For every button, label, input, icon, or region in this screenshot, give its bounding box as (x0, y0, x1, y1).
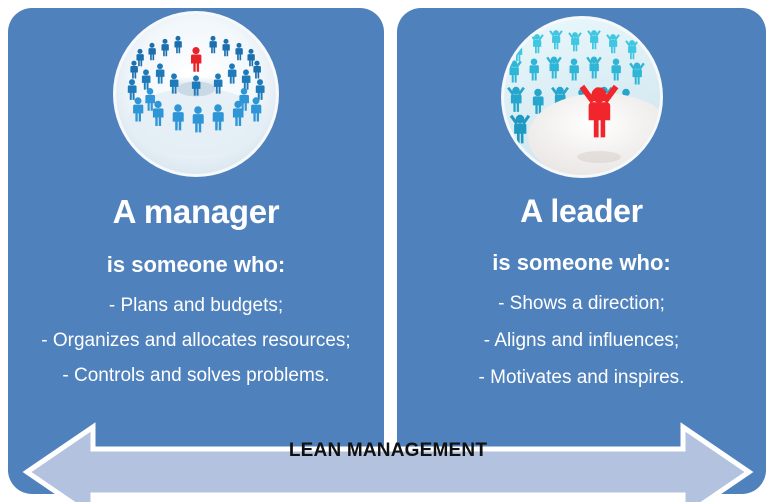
lean-management-arrow[interactable] (0, 418, 776, 502)
leader-bullet-list: - Shows a direction; - Aligns and influe… (397, 292, 766, 403)
panel-subtitle: is someone who: (107, 254, 285, 276)
panel-title: A manager (113, 195, 280, 228)
list-item: - Aligns and influences; (411, 329, 752, 353)
manager-bullet-list: - Plans and budgets; - Organizes and all… (8, 294, 384, 399)
list-item: - Controls and solves problems. (22, 364, 370, 388)
list-item: - Motivates and inspires. (411, 366, 752, 390)
manager-crowd-illustration (116, 14, 276, 174)
list-item: - Organizes and allocates resources; (22, 329, 370, 353)
panel-subtitle: is someone who: (492, 252, 670, 274)
list-item: - Shows a direction; (411, 292, 752, 316)
infographic-canvas: A manager is someone who: - Plans and bu… (0, 0, 776, 502)
list-item: - Plans and budgets; (22, 294, 370, 318)
panel-title: A leader (520, 195, 643, 227)
leader-crowd-illustration (504, 19, 660, 175)
